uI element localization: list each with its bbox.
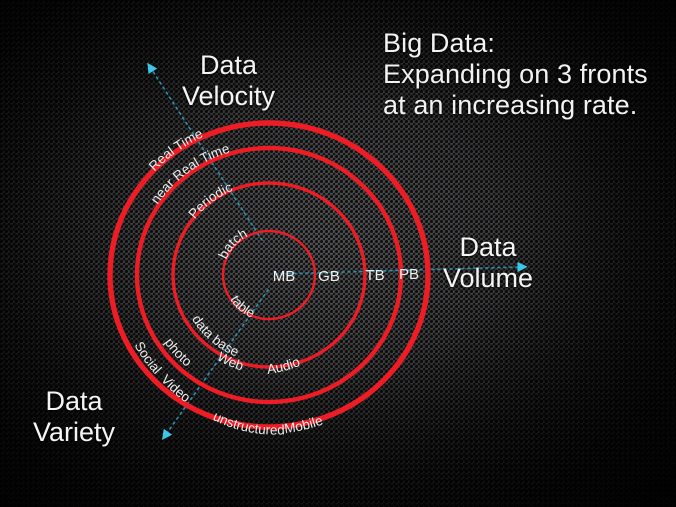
ring-label-audio: Audio	[266, 354, 302, 377]
axis-label-data-velocity: Data Velocity	[182, 50, 275, 112]
ring-label-batch: batch	[215, 226, 249, 262]
ring-label-mobile: Mobile	[283, 413, 324, 436]
volume-label-gb: GB	[318, 268, 340, 285]
axis-label-data-variety: Data Variety	[33, 386, 115, 448]
ring-label-unstructured: unstructured	[211, 409, 285, 438]
volume-label-mb: MB	[273, 268, 296, 285]
slide-title: Big Data: Expanding on 3 fronts at an in…	[383, 28, 648, 121]
volume-label-tb: TB	[365, 267, 384, 284]
axis-label-data-volume: Data Volume	[443, 232, 533, 294]
volume-label-pb: PB	[399, 266, 419, 283]
velocity-ring-labels: Real Time near Real Time Periodic batch	[146, 126, 250, 261]
slide-canvas: Real Time near Real Time Periodic batch …	[0, 0, 676, 507]
volume-ring-labels: MB GB TB PB	[273, 266, 419, 285]
variety-ring-labels: table data base photo Social Video Web A…	[132, 293, 325, 438]
